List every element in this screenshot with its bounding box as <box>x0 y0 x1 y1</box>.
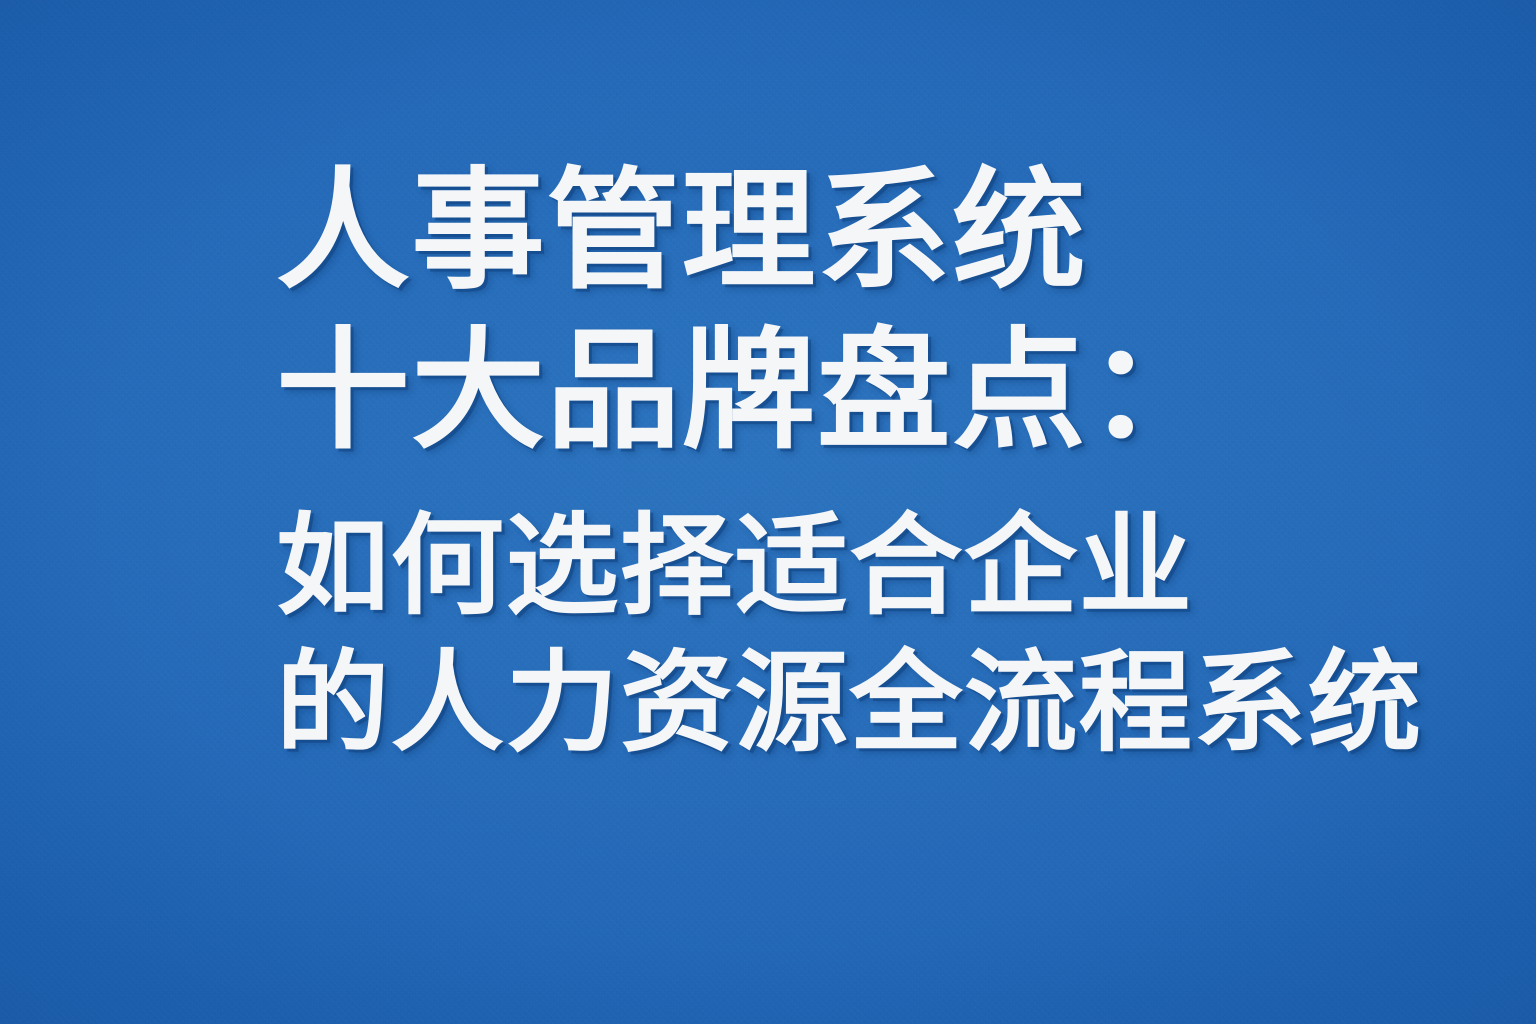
headline-text-block: 人事管理系统 十大品牌盘点： 如何选择适合企业 的人力资源全流程系统 <box>276 152 1436 770</box>
poster-canvas: 人事管理系统 十大品牌盘点： 如何选择适合企业 的人力资源全流程系统 <box>0 0 1536 1024</box>
headline-subtitle-line-1: 如何选择适合企业 <box>276 500 1471 633</box>
headline-title-line-1: 人事管理系统 <box>276 152 1459 310</box>
headline-subtitle-line-2: 的人力资源全流程系统 <box>276 637 1471 770</box>
headline-title-line-2: 十大品牌盘点： <box>276 312 1459 470</box>
